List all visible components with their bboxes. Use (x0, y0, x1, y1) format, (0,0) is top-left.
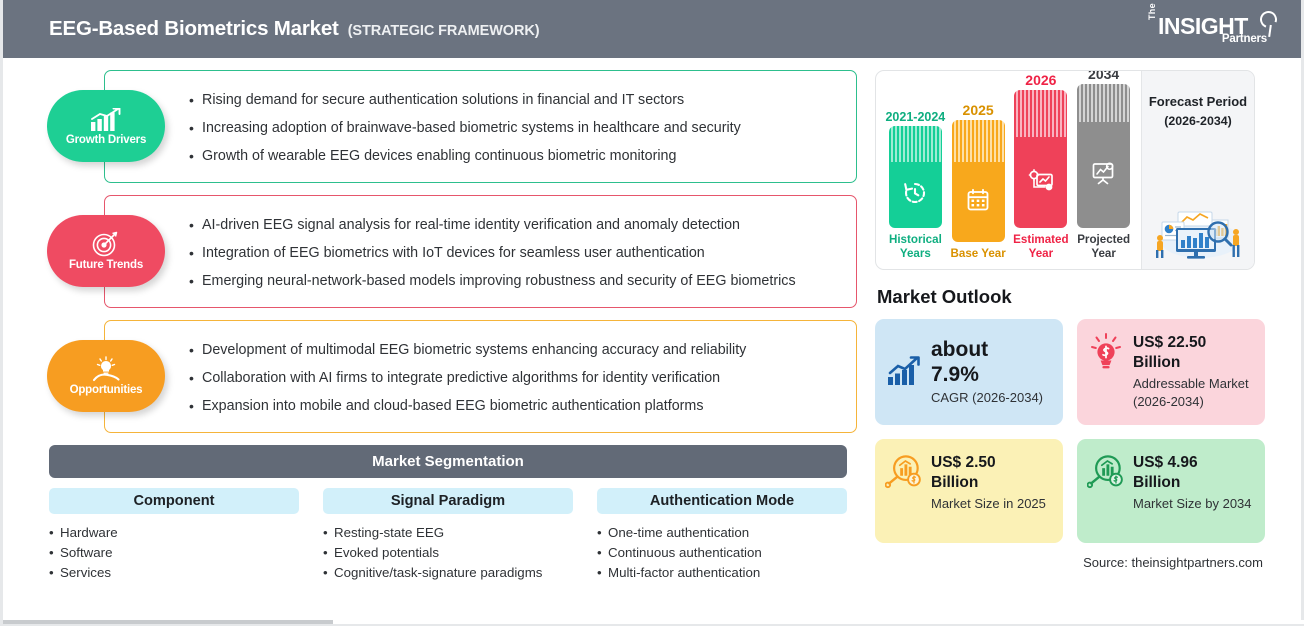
market-outlook-title: Market Outlook (877, 286, 1265, 308)
page-header: EEG-Based Biometrics Market (STRATEGIC F… (3, 0, 1301, 58)
list-item: Emerging neural-network-based models imp… (189, 267, 846, 295)
stat-label: CAGR (2026-2034) (931, 389, 1051, 407)
timeline-bar (1077, 84, 1130, 228)
logo-the-text: The (1147, 3, 1157, 20)
badge-growth-drivers[interactable]: Growth Drivers (47, 90, 165, 162)
timeline-caption: Estimated Year (1012, 233, 1070, 261)
timeline-bar (889, 126, 942, 228)
insight-partners-logo: The INSIGHT Partners (1147, 9, 1279, 49)
header-title-group: EEG-Based Biometrics Market (STRATEGIC F… (49, 17, 539, 41)
stat-text: about 7.9% CAGR (2026-2034) (931, 337, 1051, 407)
timeline-bar-stripes (889, 126, 942, 162)
analytics-dashboard-illustration (1148, 198, 1248, 265)
timeline-bar-stripes (952, 120, 1005, 162)
stat-value-main: Billion (1133, 473, 1253, 493)
timeline-year: 2026 (1025, 72, 1056, 88)
segmentation-columns: Component Hardware Software Services Sig… (49, 488, 847, 583)
list-item: Continuous authentication (597, 543, 847, 563)
logo-partners-text: Partners (1222, 33, 1267, 45)
timeline-year: 2021-2024 (885, 110, 945, 124)
segmentation-column-component: Component Hardware Software Services (49, 488, 299, 583)
timeline-bar-solid (1077, 122, 1130, 228)
factor-box-opportunities: Development of multimodal EEG biometric … (104, 320, 857, 433)
page-title: EEG-Based Biometrics Market (49, 17, 339, 41)
right-column: 2021-2024 (865, 70, 1265, 624)
stat-value-main: 7.9% (931, 362, 1051, 387)
list-item: Collaboration with AI firms to integrate… (189, 364, 846, 392)
segmentation-column-title: Component (49, 488, 299, 514)
list-item: Integration of EEG biometrics with IoT d… (189, 239, 846, 267)
market-timeline-chart: 2021-2024 (875, 70, 1255, 270)
timeline-caption: Historical Years (886, 233, 944, 261)
segmentation-column-title: Signal Paradigm (323, 488, 573, 514)
list-item: Hardware (49, 523, 299, 543)
list-item: One-time authentication (597, 523, 847, 543)
list-item: Services (49, 563, 299, 583)
badge-label: Growth Drivers (66, 134, 146, 146)
market-outlook-cards: about 7.9% CAGR (2026-2034) (875, 319, 1265, 543)
factor-opportunities: Development of multimodal EEG biometric … (47, 320, 865, 433)
factor-box-growth-drivers: Rising demand for secure authentication … (104, 70, 857, 183)
lightbulb-hand-icon (89, 356, 123, 382)
magnifier-chart-dollar-icon (885, 453, 923, 489)
stat-label: Market Size in 2025 (931, 495, 1051, 513)
segmentation-column-authentication-mode: Authentication Mode One-time authenticat… (597, 488, 847, 583)
timeline-bar-stripes (1014, 90, 1067, 137)
bullet-list-future-trends: AI-driven EEG signal analysis for real-t… (189, 211, 846, 295)
badge-future-trends[interactable]: Future Trends (47, 215, 165, 287)
timeline-year: 2025 (963, 102, 994, 118)
bottom-scrollbar-thumb[interactable] (3, 620, 333, 624)
bullet-list-opportunities: Development of multimodal EEG biometric … (189, 336, 846, 420)
timeline-item-projected: 2034 (1075, 70, 1133, 261)
timeline-year: 2034 (1088, 70, 1119, 82)
timeline-bars: 2021-2024 (876, 71, 1141, 269)
presentation-chart-icon (1091, 161, 1117, 190)
list-item: Evoked potentials (323, 543, 573, 563)
source-attribution: Source: theinsightpartners.com (875, 555, 1265, 570)
factor-future-trends: AI-driven EEG signal analysis for real-t… (47, 195, 865, 308)
page-subtitle: (STRATEGIC FRAMEWORK) (348, 23, 540, 39)
segmentation-title: Market Segmentation (49, 445, 847, 478)
stat-label: Market Size by 2034 (1133, 495, 1253, 513)
bottom-scrollbar[interactable] (3, 620, 1304, 624)
factor-box-future-trends: AI-driven EEG signal analysis for real-t… (104, 195, 857, 308)
forecast-period-title: Forecast Period (1149, 93, 1247, 110)
list-item: AI-driven EEG signal analysis for real-t… (189, 211, 846, 239)
segmentation-list: Hardware Software Services (49, 523, 299, 583)
stat-card-market-size-2025[interactable]: US$ 2.50 Billion Market Size in 2025 (875, 439, 1063, 543)
timeline-caption: Base Year (951, 247, 1006, 261)
timeline-bar (1014, 90, 1067, 228)
list-item: Rising demand for secure authentication … (189, 86, 846, 114)
forecast-period-range: (2026-2034) (1164, 114, 1232, 128)
factor-growth-drivers: Rising demand for secure authentication … (47, 70, 865, 183)
stat-value-top: US$ 2.50 (931, 453, 1051, 473)
stat-text: US$ 2.50 Billion Market Size in 2025 (931, 453, 1051, 513)
stat-label: Addressable Market (2026-2034) (1133, 375, 1253, 411)
list-item: Resting-state EEG (323, 523, 573, 543)
timeline-item-estimated: 2026 (1012, 72, 1070, 261)
stat-value-top: US$ 4.96 (1133, 453, 1253, 473)
forecast-period-panel: Forecast Period (2026-2034) (1141, 71, 1254, 269)
bullet-list-growth-drivers: Rising demand for secure authentication … (189, 86, 846, 170)
segmentation-column-signal-paradigm: Signal Paradigm Resting-state EEG Evoked… (323, 488, 573, 583)
magnifier-chart-dollar-icon (1087, 453, 1125, 489)
timeline-bar (952, 120, 1005, 242)
calendar-icon (966, 188, 990, 217)
page-body: Rising demand for secure authentication … (3, 58, 1301, 624)
timeline-bar-solid (952, 162, 1005, 242)
bar-chart-up-icon (89, 106, 123, 132)
list-item: Multi-factor authentication (597, 563, 847, 583)
target-dart-icon (91, 231, 121, 257)
list-item: Increasing adoption of brainwave-based b… (189, 114, 846, 142)
badge-label: Opportunities (70, 384, 143, 396)
stat-text: US$ 22.50 Billion Addressable Market (20… (1133, 333, 1253, 411)
stat-text: US$ 4.96 Billion Market Size by 2034 (1133, 453, 1253, 513)
segmentation-column-title: Authentication Mode (597, 488, 847, 514)
lightbulb-dollar-icon (1087, 333, 1125, 369)
stat-value-main: Billion (931, 473, 1051, 493)
timeline-item-historical: 2021-2024 (886, 110, 944, 261)
list-item: Software (49, 543, 299, 563)
timeline-bar-stripes (1077, 84, 1130, 122)
stat-card-cagr[interactable]: about 7.9% CAGR (2026-2034) (875, 319, 1063, 425)
stat-value-top: US$ 22.50 (1133, 333, 1253, 353)
timeline-bar-solid (1014, 137, 1067, 228)
gear-chart-icon (1028, 168, 1054, 197)
timeline-caption: Projected Year (1075, 233, 1133, 261)
list-item: Development of multimodal EEG biometric … (189, 336, 846, 364)
badge-label: Future Trends (69, 259, 143, 271)
list-item: Cognitive/task-signature paradigms (323, 563, 573, 583)
segmentation-list: Resting-state EEG Evoked potentials Cogn… (323, 523, 573, 583)
left-column: Rising demand for secure authentication … (13, 70, 865, 624)
stat-card-addressable-market[interactable]: US$ 22.50 Billion Addressable Market (20… (1077, 319, 1265, 425)
list-item: Expansion into mobile and cloud-based EE… (189, 392, 846, 420)
stat-card-market-size-2034[interactable]: US$ 4.96 Billion Market Size by 2034 (1077, 439, 1265, 543)
list-item: Growth of wearable EEG devices enabling … (189, 142, 846, 170)
timeline-bar-solid (889, 162, 942, 228)
timeline-item-base: 2025 (949, 102, 1007, 261)
badge-opportunities[interactable]: Opportunities (47, 340, 165, 412)
segmentation-list: One-time authentication Continuous authe… (597, 523, 847, 583)
stat-value-top: about (931, 337, 1051, 362)
growth-bar-chart-icon (885, 356, 923, 388)
stat-value-main: Billion (1133, 353, 1253, 373)
history-clock-icon (902, 180, 928, 211)
infographic-page: EEG-Based Biometrics Market (STRATEGIC F… (0, 0, 1304, 626)
